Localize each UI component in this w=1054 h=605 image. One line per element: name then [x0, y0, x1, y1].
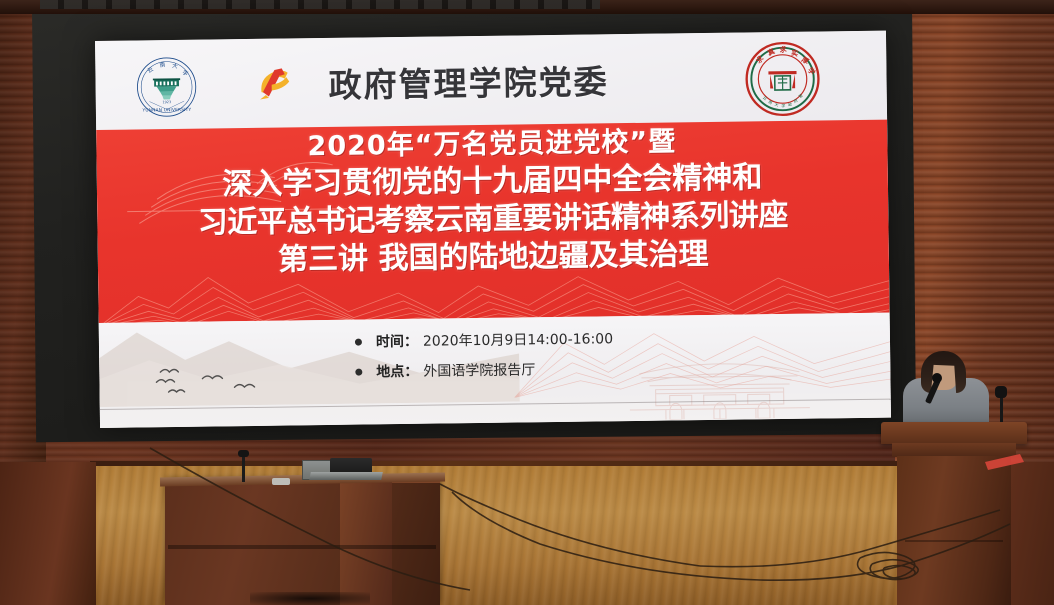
svg-text:管: 管 [797, 93, 803, 99]
bullet-icon [355, 338, 362, 345]
svg-text:大: 大 [172, 61, 179, 70]
floor-cables [0, 440, 1054, 605]
detail-key-location: 地点： [376, 361, 418, 382]
svg-text:学: 学 [181, 68, 190, 78]
list-item: 时间： 2020年10月9日14:00-16:00 [355, 328, 613, 351]
slide-detail-list: 时间： 2020年10月9日14:00-16:00 地点： 外国语学院报告厅 [355, 328, 614, 391]
svg-text:求: 求 [779, 44, 788, 54]
svg-text:大: 大 [774, 102, 779, 108]
circular-red-seal-icon: 求 真 求 实 厚 学 云 南 大 学 政 府 管 [743, 39, 822, 118]
ceiling-notch-strip [40, 0, 600, 9]
bullet-icon [355, 368, 362, 375]
banner-text-block: 2020年“万名党员进党校”暨 深入学习贯彻党的十九届四中全会精神和 习近平总书… [96, 126, 889, 278]
svg-text:1923: 1923 [162, 100, 171, 104]
podium-microphone-head-icon [995, 386, 1007, 398]
svg-text:YUNNAN UNIVERSITY: YUNNAN UNIVERSITY [142, 107, 192, 114]
microphone-head-icon [932, 373, 942, 383]
projected-slide: 1923 YUNNAN UNIVERSITY 云 南 大 学 政府管理学院党委 [95, 31, 891, 428]
svg-text:云: 云 [146, 66, 155, 75]
page-title: 政府管理学院党委 [328, 55, 609, 107]
detail-value-location: 外国语学院报告厅 [423, 359, 535, 380]
slide-header: 1923 YUNNAN UNIVERSITY 云 南 大 学 政府管理学院党委 [95, 31, 887, 130]
detail-key-time: 时间： [376, 331, 418, 352]
banner-line-3: 习近平总书记考察云南重要讲话精神系列讲座 [97, 200, 888, 240]
tiananmen-gate-lineart-decor [569, 349, 870, 421]
list-item: 地点： 外国语学院报告厅 [355, 358, 613, 381]
svg-text:云: 云 [762, 95, 768, 101]
floor-shadow [250, 592, 370, 605]
red-cable-marker [985, 454, 1024, 470]
svg-text:府: 府 [793, 98, 799, 104]
birds-decor-icon [154, 361, 265, 402]
banner-line-2: 深入学习贯彻党的十九届四中全会精神和 [97, 162, 888, 202]
detail-value-time: 2020年10月9日14:00-16:00 [423, 328, 613, 350]
yunnan-university-logo-icon: 1923 YUNNAN UNIVERSITY 云 南 大 学 [135, 56, 198, 119]
svg-text:政: 政 [787, 101, 792, 107]
svg-text:实: 实 [790, 48, 799, 58]
hammer-sickle-emblem-icon [252, 62, 297, 107]
svg-text:南: 南 [768, 99, 774, 105]
lecture-hall-scene: 1923 YUNNAN UNIVERSITY 云 南 大 学 政府管理学院党委 [0, 0, 1054, 605]
svg-text:学: 学 [781, 103, 785, 108]
slide-red-banner: 2020年“万名党员进党校”暨 深入学习贯彻党的十九届四中全会精神和 习近平总书… [96, 120, 889, 323]
slide-detail-panel: 时间： 2020年10月9日14:00-16:00 地点： 外国语学院报告厅 [99, 313, 891, 428]
